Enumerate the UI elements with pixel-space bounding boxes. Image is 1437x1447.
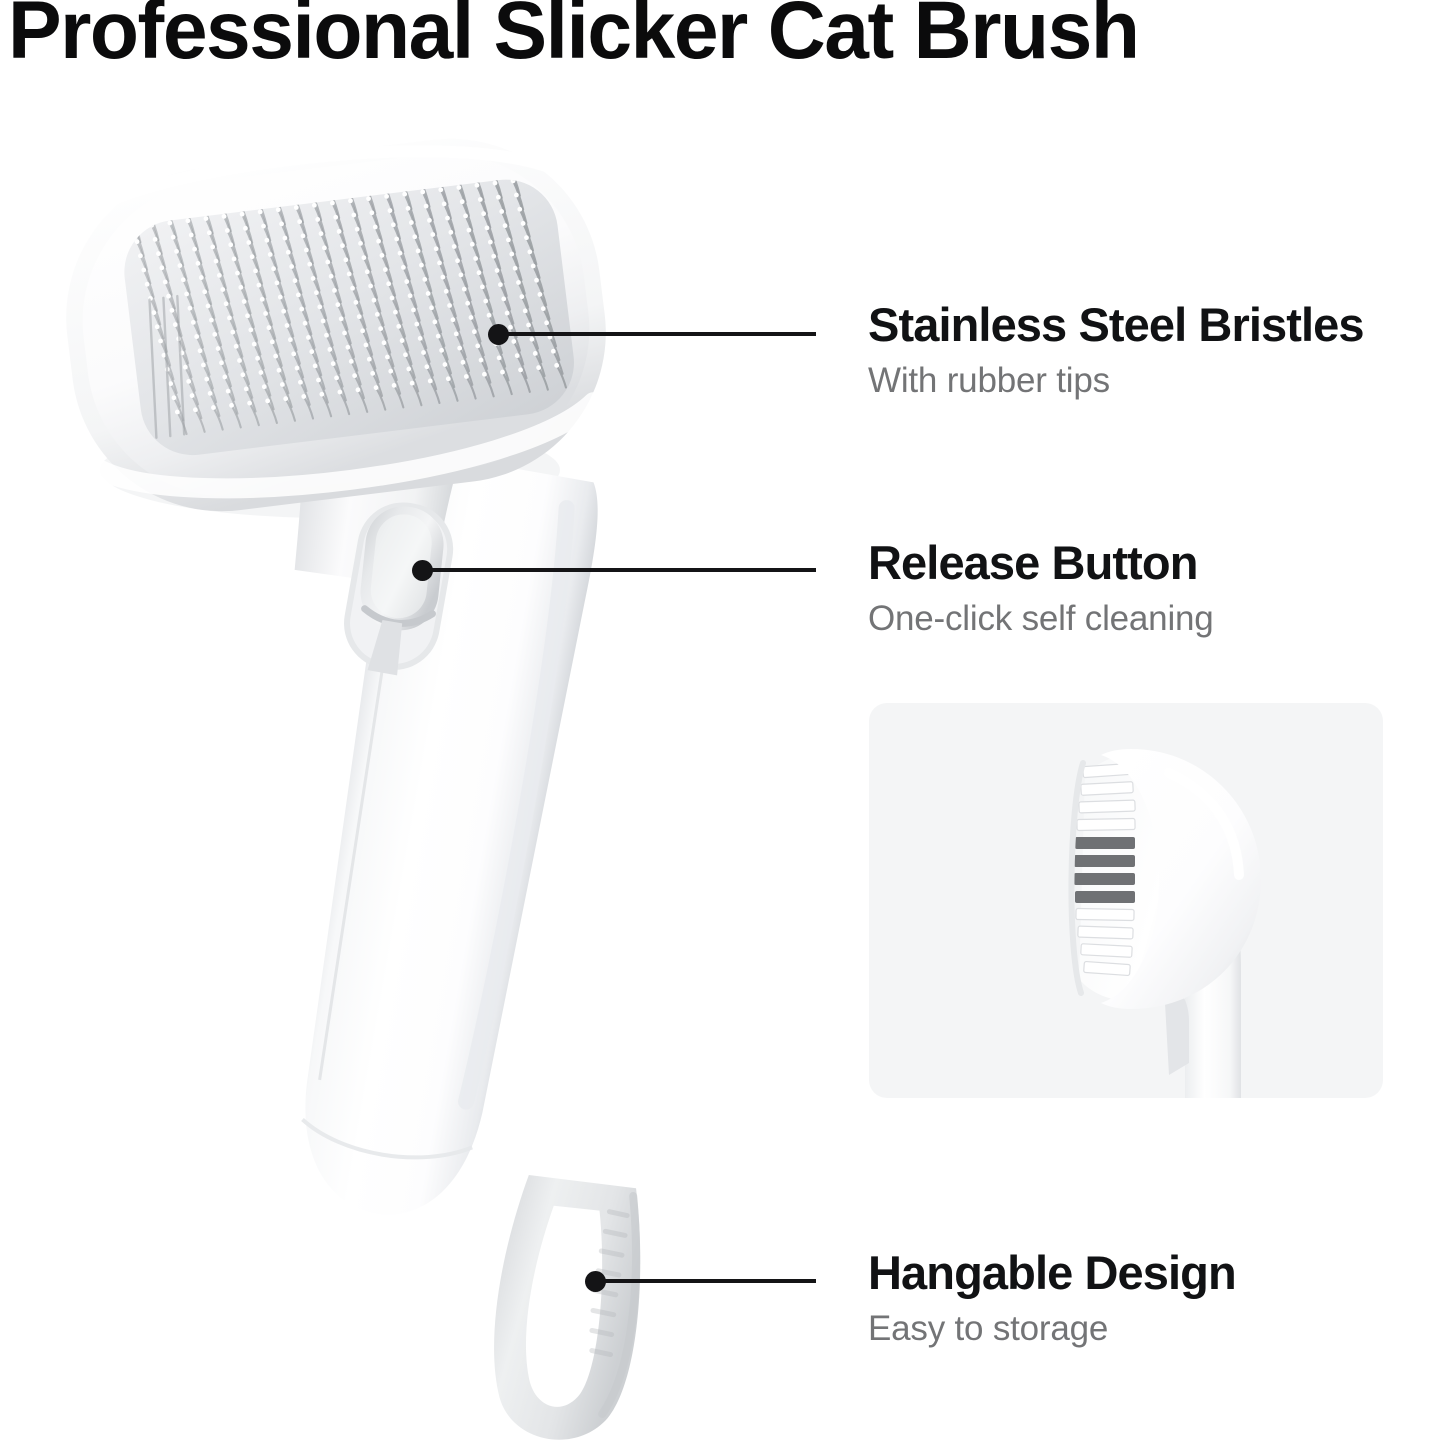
callout-release-button: Release Button One-click self cleaning (868, 538, 1214, 639)
product-infographic: Professional Slicker Cat Brush (0, 0, 1437, 1447)
callout-release-button-subtitle: One-click self cleaning (868, 600, 1214, 639)
brush-head-group (49, 122, 623, 529)
callout-hangable-title: Hangable Design (868, 1248, 1236, 1297)
callout-bristles-subtitle: With rubber tips (868, 362, 1364, 401)
release-button-track (337, 495, 461, 677)
bristle-field (128, 161, 566, 438)
brush-head-housing (49, 122, 623, 529)
callout-release-button-title: Release Button (868, 538, 1214, 587)
release-button-group (336, 495, 460, 681)
handle-body (268, 448, 606, 1231)
self-cleaning-side-view-illustration (869, 703, 1383, 1098)
callout-hangable-subtitle: Easy to storage (868, 1310, 1236, 1349)
leader-line-bristles (498, 332, 816, 336)
bristle-pad (118, 174, 580, 461)
hanging-loop-group (483, 1173, 651, 1447)
self-cleaning-photo-panel (869, 703, 1383, 1098)
hanging-loop-hole (518, 1204, 610, 1410)
callout-bristles: Stainless Steel Bristles With rubber tip… (868, 300, 1364, 401)
hanging-loop-strap (483, 1173, 651, 1447)
callout-hangable: Hangable Design Easy to storage (868, 1248, 1236, 1349)
callout-bristles-title: Stainless Steel Bristles (868, 300, 1364, 349)
leader-line-hangable (595, 1279, 816, 1283)
leader-line-release-button (422, 568, 816, 572)
page-title: Professional Slicker Cat Brush (8, 0, 1138, 72)
handle-group (268, 448, 606, 1231)
